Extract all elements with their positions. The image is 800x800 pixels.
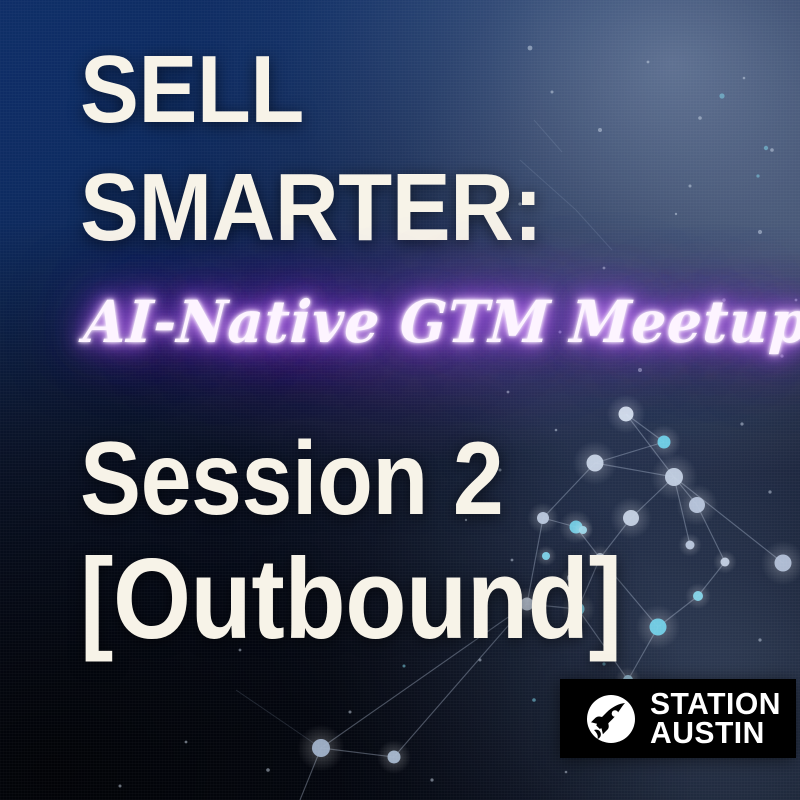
logo-line-austin: AUSTIN — [650, 719, 781, 748]
headline-line-2: SMARTER: — [80, 162, 542, 254]
headline-line-1: SELL — [80, 44, 304, 136]
poster-canvas: SELL SMARTER: AI-Native GTM Meetup Sessi… — [0, 0, 800, 800]
session-line-1: Session 2 — [80, 430, 503, 530]
session-line-2: [Outbound] — [80, 545, 622, 654]
neon-subtitle: AI-Native GTM Meetup — [82, 288, 800, 356]
station-austin-logo: STATION AUSTIN — [560, 679, 796, 758]
logo-wordmark: STATION AUSTIN — [650, 690, 785, 747]
rocket-icon — [586, 694, 636, 744]
